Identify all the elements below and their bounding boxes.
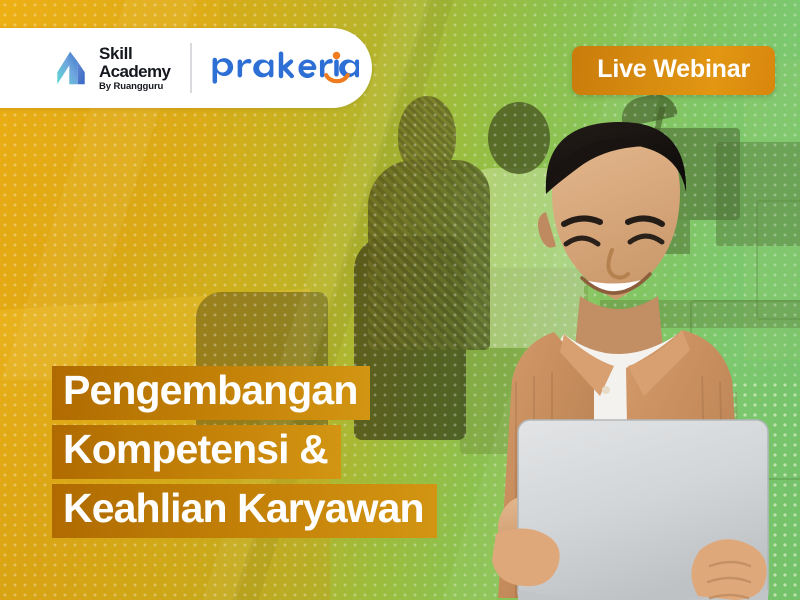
skill-academy-logo[interactable]: Skill Academy By Ruangguru xyxy=(52,45,170,92)
prakerja-logo[interactable] xyxy=(209,51,359,85)
skill-academy-a-mark-icon xyxy=(52,50,90,86)
logo-bar: Skill Academy By Ruangguru xyxy=(0,28,372,108)
man-shirt-button xyxy=(602,386,610,394)
skill-academy-line2: Academy xyxy=(99,63,170,80)
foreground-man-with-laptop xyxy=(476,120,800,600)
logo-divider xyxy=(190,43,192,93)
skill-academy-wordmark: Skill Academy By Ruangguru xyxy=(99,45,170,92)
prakerja-dot-icon xyxy=(333,52,341,60)
man-ear xyxy=(538,212,556,248)
headline-line-1: Pengembangan xyxy=(52,366,370,420)
skill-academy-tagline: By Ruangguru xyxy=(99,82,170,92)
headline: Pengembangan Kompetensi & Keahlian Karya… xyxy=(52,366,437,538)
skill-academy-line1: Skill xyxy=(99,45,170,62)
headline-line-3: Keahlian Karyawan xyxy=(52,484,437,538)
man-hand-right xyxy=(691,539,766,600)
live-webinar-badge[interactable]: Live Webinar xyxy=(572,46,775,95)
promo-banner: Skill Academy By Ruangguru xyxy=(0,0,800,600)
headline-line-2: Kompetensi & xyxy=(52,425,341,479)
man-hand-left xyxy=(492,528,560,586)
